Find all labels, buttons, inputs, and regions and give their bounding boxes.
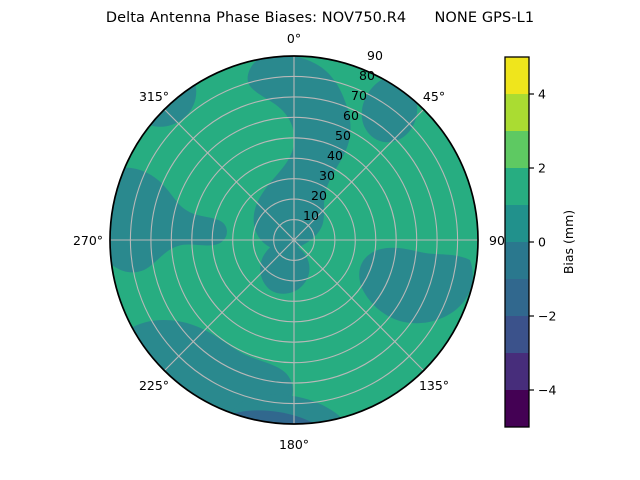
colorbar-tick-label-3: 2 (538, 161, 546, 176)
colorbar-band-8 (505, 94, 529, 131)
r-tick-30: 30 (319, 168, 335, 183)
theta-tick-225: 225° (139, 378, 169, 393)
polar-chart: 0° 45° 90 135° 180° 225° 270° 315° 10 20… (0, 0, 640, 480)
theta-tick-270: 270° (73, 233, 103, 248)
r-tick-70: 70 (351, 88, 367, 103)
colorbar: −4−2024 Bias (mm) (505, 57, 576, 427)
r-tick-80: 80 (359, 68, 375, 83)
colorbar-band-9 (505, 57, 529, 94)
polar-chart-svg: 0° 45° 90 135° 180° 225° 270° 315° 10 20… (0, 0, 640, 480)
colorbar-bands (505, 57, 529, 427)
theta-tick-180: 180° (279, 437, 309, 452)
r-tick-50: 50 (335, 128, 351, 143)
colorbar-axis-label: Bias (mm) (561, 210, 576, 274)
colorbar-band-7 (505, 131, 529, 168)
colorbar-tick-label-4: 4 (538, 87, 546, 102)
colorbar-band-6 (505, 168, 529, 205)
colorbar-tick-label-2: 0 (538, 235, 546, 250)
theta-tick-0: 0° (287, 31, 301, 46)
colorbar-band-3 (505, 279, 529, 316)
theta-tick-135: 135° (419, 378, 449, 393)
figure-canvas: Delta Antenna Phase Biases: NOV750.R4 NO… (0, 0, 640, 480)
r-tick-40: 40 (327, 148, 343, 163)
theta-tick-45: 45° (423, 89, 445, 104)
colorbar-band-5 (505, 205, 529, 242)
r-tick-90: 90 (367, 48, 383, 63)
colorbar-band-0 (505, 390, 529, 427)
r-tick-60: 60 (343, 108, 359, 123)
r-tick-20: 20 (311, 188, 327, 203)
colorbar-tick-label-1: −2 (538, 309, 556, 324)
colorbar-tick-label-0: −4 (538, 383, 556, 398)
r-tick-10: 10 (303, 208, 319, 223)
colorbar-band-1 (505, 353, 529, 390)
theta-tick-90: 90 (489, 233, 505, 248)
colorbar-band-2 (505, 316, 529, 353)
theta-tick-315: 315° (139, 89, 169, 104)
colorbar-ticks: −4−2024 (529, 87, 556, 398)
colorbar-band-4 (505, 242, 529, 279)
